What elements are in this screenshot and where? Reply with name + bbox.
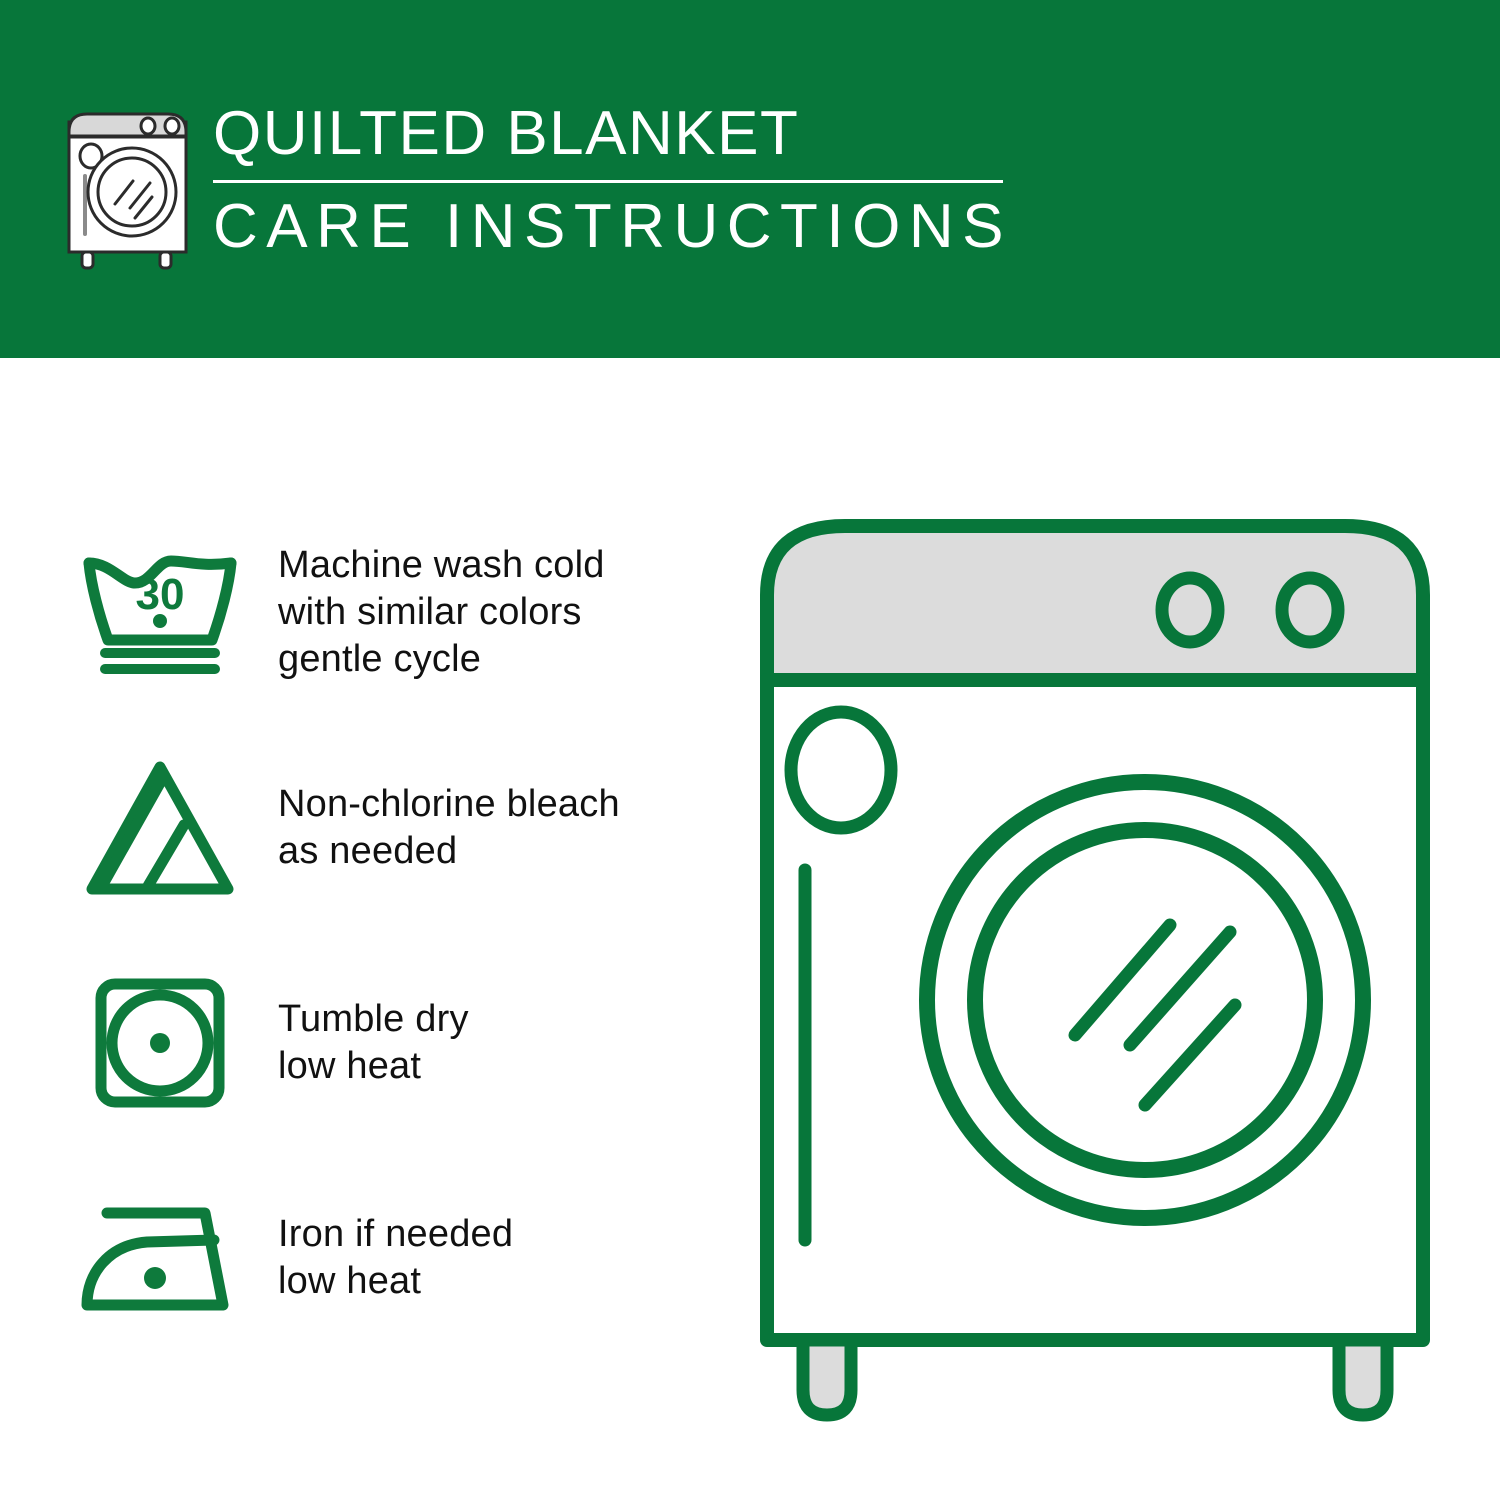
care-text-machine-wash: Machine wash cold with similar colors ge… (278, 542, 605, 683)
tumble-dry-low-icon (70, 973, 250, 1113)
wash-tub-30-icon: 30 (70, 545, 250, 680)
care-text-line: Non-chlorine bleach (278, 781, 620, 828)
care-row-iron: Iron if needed low heat (70, 1150, 710, 1365)
front-load-washing-machine-illustration (745, 500, 1445, 1440)
page-title: QUILTED BLANKET (213, 100, 1012, 168)
care-instructions-list: 30 Machine wash cold with similar colors… (70, 505, 710, 1365)
header-title-block: QUILTED BLANKET CARE INSTRUCTIONS (213, 96, 1012, 261)
machine-legs (803, 1340, 1387, 1415)
care-text-tumble-dry: Tumble dry low heat (278, 996, 469, 1090)
non-chlorine-bleach-triangle-icon (70, 753, 250, 903)
care-text-bleach: Non-chlorine bleach as needed (278, 781, 620, 875)
detergent-indicator-circle (791, 712, 891, 828)
care-text-iron: Iron if needed low heat (278, 1211, 513, 1305)
care-text-line: Iron if needed (278, 1211, 513, 1258)
washing-machine-logo-icon (60, 96, 195, 271)
care-row-machine-wash: 30 Machine wash cold with similar colors… (70, 505, 710, 720)
care-text-line: Tumble dry (278, 996, 469, 1043)
title-divider (213, 180, 1003, 183)
page-subtitle: CARE INSTRUCTIONS (213, 193, 1012, 261)
care-text-line: with similar colors (278, 589, 605, 636)
header-content: QUILTED BLANKET CARE INSTRUCTIONS (60, 96, 1012, 271)
care-text-line: as needed (278, 828, 620, 875)
door-streaks (1075, 925, 1235, 1105)
header-band: QUILTED BLANKET CARE INSTRUCTIONS (0, 0, 1500, 358)
care-row-tumble-dry: Tumble dry low heat (70, 935, 710, 1150)
iron-low-heat-icon (70, 1193, 250, 1323)
care-text-line: gentle cycle (278, 636, 605, 683)
care-text-line: low heat (278, 1043, 469, 1090)
care-text-line: low heat (278, 1258, 513, 1305)
door-outer-ring (927, 782, 1363, 1218)
door-inner-ring (975, 830, 1315, 1170)
care-text-line: Machine wash cold (278, 542, 605, 589)
care-row-bleach: Non-chlorine bleach as needed (70, 720, 710, 935)
wash-temperature-label: 30 (136, 570, 185, 619)
control-panel-fill (767, 526, 1423, 680)
